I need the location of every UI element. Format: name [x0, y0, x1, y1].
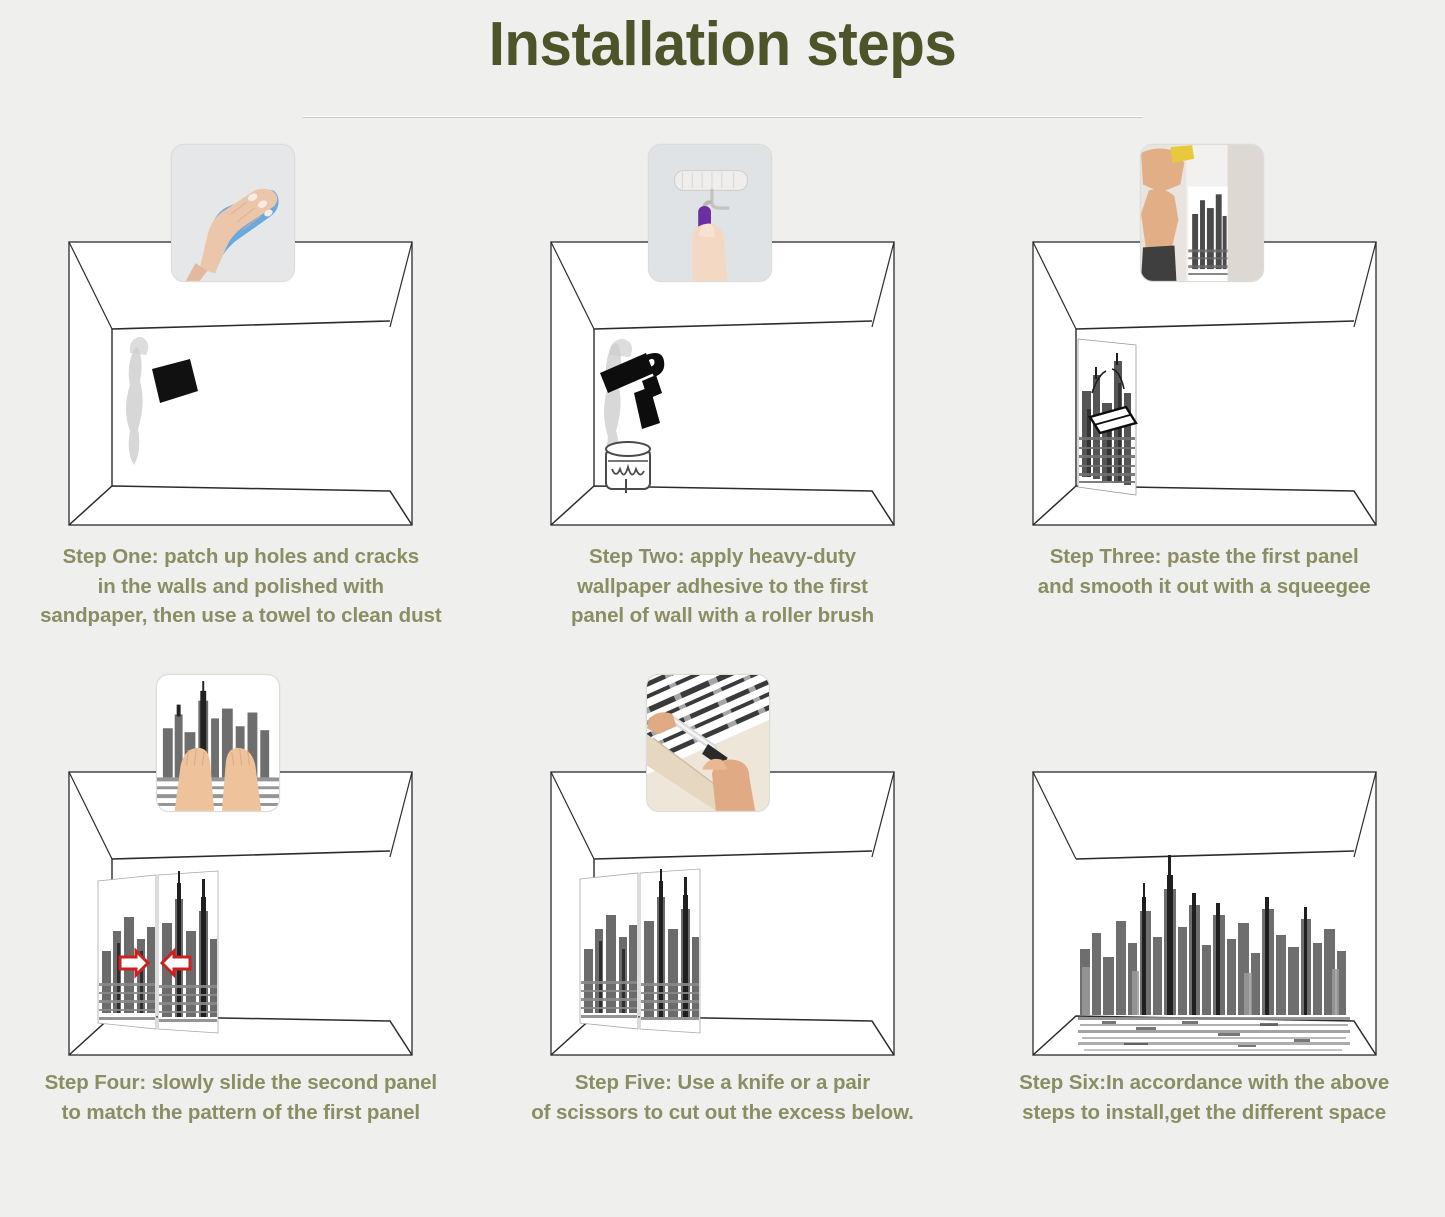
inset-photo-hand-wiping-cloth-icon	[171, 144, 295, 282]
step-cell-four: Step Four: slowly slide the second panel…	[0, 674, 482, 1204]
illustration-step-four	[68, 674, 413, 1064]
illustration-step-six	[1032, 674, 1377, 1064]
room-diagram-step-four	[68, 771, 413, 1056]
room-diagram-step-five	[550, 771, 895, 1056]
caption-step-two: Step Two: apply heavy-duty wallpaper adh…	[571, 542, 874, 629]
installation-steps-page: { "header": { "title": "Installation ste…	[0, 0, 1445, 1217]
inset-photo-paint-roller-icon	[648, 144, 772, 282]
mural-panel-second	[640, 869, 700, 1033]
illustration-step-five	[550, 674, 895, 1064]
caption-step-three: Step Three: paste the first panel and sm…	[1038, 542, 1371, 600]
inset-photo-knife-cutting-icon	[646, 674, 770, 812]
room-diagram-step-three	[1032, 241, 1377, 526]
caption-step-five: Step Five: Use a knife or a pair of scis…	[531, 1068, 914, 1126]
caption-step-six: Step Six:In accordance with the above st…	[1019, 1068, 1389, 1126]
step-cell-three: Step Three: paste the first panel and sm…	[963, 144, 1445, 674]
steps-grid: Step One: patch up holes and cracks in t…	[0, 144, 1445, 1204]
caption-step-one: Step One: patch up holes and cracks in t…	[40, 542, 441, 629]
step-cell-five: Step Five: Use a knife or a pair of scis…	[482, 674, 964, 1204]
title-divider	[303, 116, 1143, 118]
illustration-step-one	[68, 144, 413, 534]
mural-panel-second	[158, 871, 218, 1033]
mural-panel-first	[98, 875, 156, 1029]
illustration-step-two	[550, 144, 895, 534]
room-diagram-step-six	[1032, 771, 1377, 1056]
room-diagram-step-one	[68, 241, 413, 526]
room-diagram-step-two	[550, 241, 895, 526]
step-cell-six: Step Six:In accordance with the above st…	[963, 674, 1445, 1204]
step-cell-one: Step One: patch up holes and cracks in t…	[0, 144, 482, 674]
mural-panel-first	[580, 873, 638, 1029]
illustration-step-three	[1032, 144, 1377, 534]
paint-bucket-icon	[606, 442, 650, 493]
inset-photo-hands-smoothing-mural-icon	[156, 674, 280, 812]
page-title: Installation steps	[43, 0, 1401, 82]
caption-step-four: Step Four: slowly slide the second panel…	[45, 1068, 437, 1126]
step-cell-two: Step Two: apply heavy-duty wallpaper adh…	[482, 144, 964, 674]
inset-photo-squeegee-application-icon	[1140, 144, 1264, 282]
